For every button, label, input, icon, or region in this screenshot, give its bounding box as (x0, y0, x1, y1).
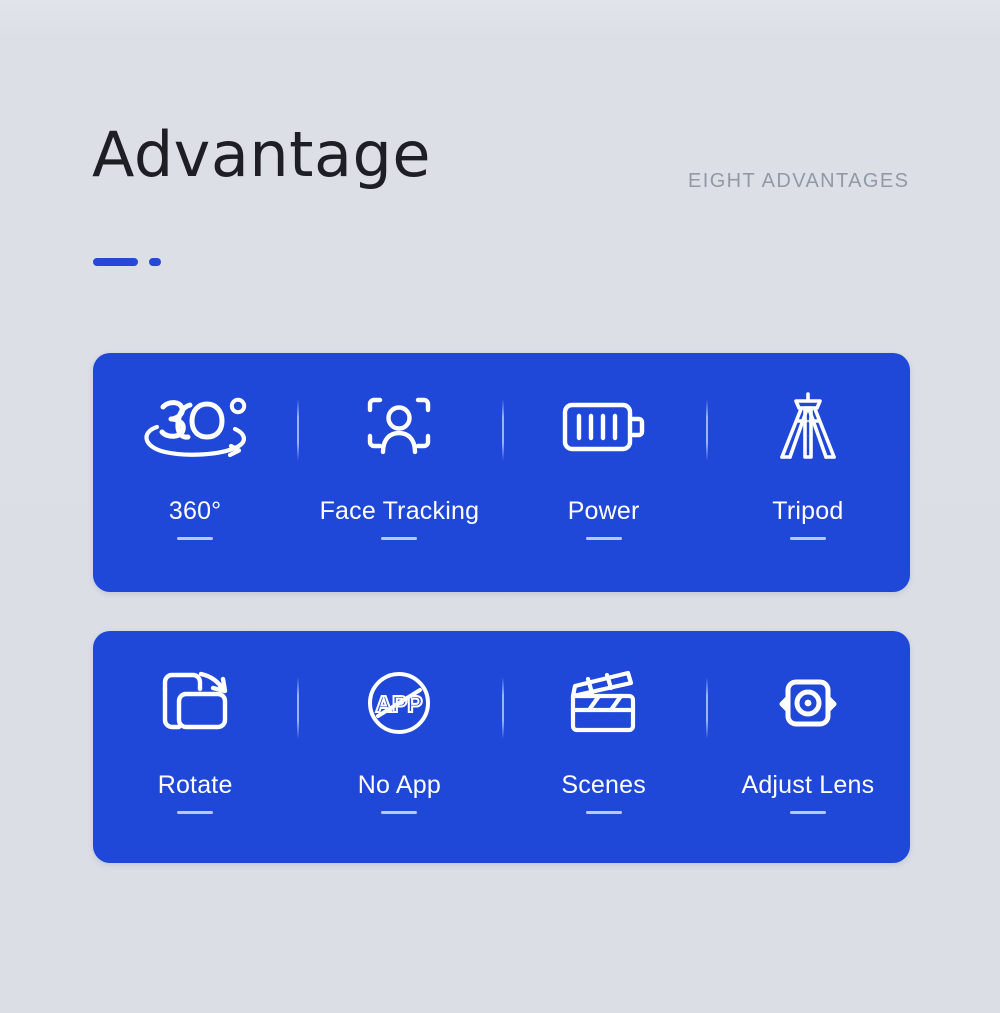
clapperboard-icon (566, 663, 642, 743)
feature-label: No App (358, 771, 441, 800)
advantages-row-2: Rotate APP No App (93, 631, 910, 863)
screen-rotate-icon (157, 663, 233, 743)
label-underline (177, 811, 213, 814)
label-underline (586, 811, 622, 814)
360-rotation-icon (135, 387, 255, 467)
battery-icon (562, 387, 646, 467)
feature-power[interactable]: Power (502, 353, 706, 592)
feature-360[interactable]: 360° (93, 353, 297, 592)
feature-label: Scenes (561, 771, 646, 800)
feature-label: Rotate (158, 771, 233, 800)
tripod-icon (775, 387, 841, 467)
feature-label: Tripod (772, 497, 843, 526)
feature-label: Adjust Lens (741, 771, 874, 800)
accent-marker (93, 258, 161, 266)
page-title: Advantage (92, 124, 431, 186)
accent-dot (149, 258, 161, 266)
advantages-row-1: 360° Face Tracking (93, 353, 910, 592)
label-underline (381, 537, 417, 540)
feature-label: Face Tracking (320, 497, 480, 526)
feature-no-app[interactable]: APP No App (297, 631, 501, 863)
feature-adjust-lens[interactable]: Adjust Lens (706, 631, 910, 863)
accent-dash (93, 258, 138, 266)
adjust-lens-icon (770, 663, 846, 743)
face-tracking-icon (366, 387, 432, 467)
feature-scenes[interactable]: Scenes (502, 631, 706, 863)
label-underline (790, 537, 826, 540)
section-header: Advantage EIGHT ADVANTAGES (0, 0, 1000, 300)
label-underline (177, 537, 213, 540)
feature-label: Power (568, 497, 640, 526)
label-underline (381, 811, 417, 814)
label-underline (790, 811, 826, 814)
no-app-icon: APP (366, 663, 432, 743)
section-subtitle: EIGHT ADVANTAGES (688, 170, 909, 193)
feature-face-tracking[interactable]: Face Tracking (297, 353, 501, 592)
feature-label: 360° (169, 497, 222, 526)
feature-tripod[interactable]: Tripod (706, 353, 910, 592)
label-underline (586, 537, 622, 540)
feature-rotate[interactable]: Rotate (93, 631, 297, 863)
advantage-section: Advantage EIGHT ADVANTAGES (0, 0, 1000, 1013)
